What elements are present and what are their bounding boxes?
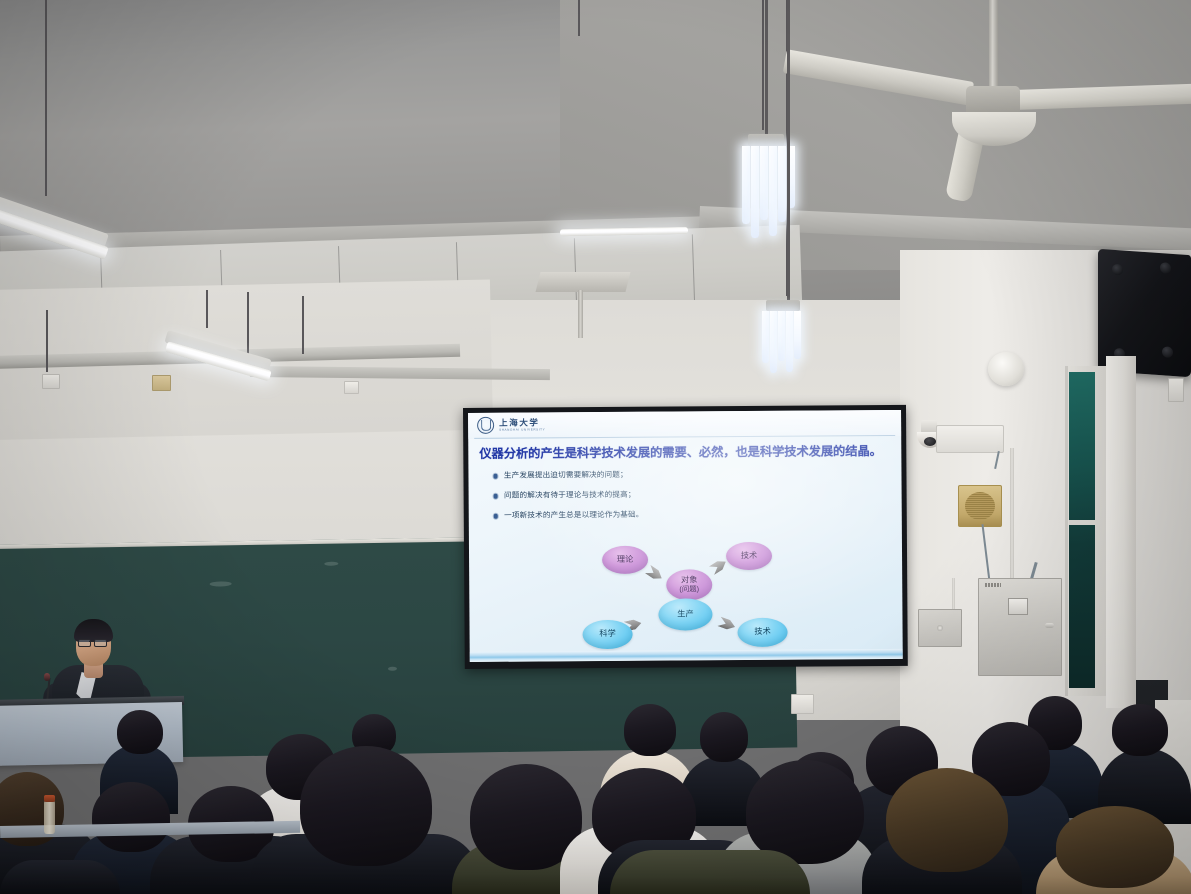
hanging-wire [762, 0, 764, 130]
list-item [250, 834, 480, 894]
north-face-logo-icon [626, 860, 642, 873]
right-wall-lower-panel [1155, 700, 1191, 894]
diagram-arrow [709, 557, 729, 575]
bottle-cap [44, 795, 55, 802]
bullet-text: 一项新技术的产生总是以理论作为基础。 [504, 510, 643, 520]
conduit-pipe [1010, 448, 1014, 580]
list-item [452, 842, 602, 894]
list-item [0, 860, 120, 894]
diagram-arrow [717, 617, 736, 632]
slide-title: 仪器分析的产生是科学技术发展的需要、必然，也是科学技术发展的结晶。 [479, 444, 891, 462]
node-label: 理论 [617, 556, 633, 565]
diagram-node-tech-bottom: 技术 [737, 618, 787, 647]
slide-diagram: 理论 技术 对象 (问题) 生产 科学 技术 [469, 538, 903, 653]
diagram-node-production: 生产 [658, 598, 712, 630]
university-name-en: SHANGHAI UNIVERSITY [499, 428, 545, 431]
water-bottle [44, 800, 55, 834]
wall-pillar [1106, 356, 1136, 708]
student-head [592, 768, 696, 860]
bullet-text: 问题的解决有待于理论与技术的提高； [504, 490, 636, 500]
node-label: 技术 [754, 628, 770, 637]
conduit-pipe [952, 578, 955, 612]
window-glass [1069, 372, 1095, 688]
diagram-arrow [645, 565, 665, 583]
list-item [760, 792, 892, 894]
wall-outlet-plate[interactable] [1168, 378, 1184, 402]
university-logo: 上海大学 SHANGHAI UNIVERSITY [477, 416, 545, 433]
hanging-wire [578, 0, 580, 36]
bullet-text: 生产发展提出迫切需要解决的问题； [504, 470, 628, 480]
hanging-wire [247, 292, 249, 360]
wall-outlet-plate[interactable] [791, 694, 814, 714]
podium [0, 702, 183, 766]
microphone-icon [44, 673, 50, 681]
jacket-brand-text: THE NORTH FACE [646, 858, 683, 871]
junction-box [936, 425, 1004, 453]
node-sublabel: (问题) [679, 585, 699, 593]
list-item [330, 748, 414, 818]
list-item [243, 786, 361, 894]
bullet-dot-icon [494, 494, 498, 498]
wall-outlet-plate[interactable] [344, 381, 359, 394]
university-name-cn: 上海大学 [499, 418, 545, 427]
hanging-wire [46, 310, 48, 372]
projection-screen[interactable]: 上海大学 SHANGHAI UNIVERSITY 仪器分析的产生是科学技术发展的… [463, 405, 908, 669]
student-head [470, 764, 582, 870]
diagram-node-science: 科学 [582, 620, 632, 649]
presentation-slide[interactable]: 上海大学 SHANGHAI UNIVERSITY 仪器分析的产生是科学技术发展的… [468, 410, 903, 662]
list-item: THE NORTH FACE [598, 840, 766, 894]
wall-outlet-plate[interactable] [42, 374, 60, 389]
node-label: 生产 [677, 610, 693, 619]
student-head [300, 746, 432, 866]
lecture-hall-photo: 上海大学 SHANGHAI UNIVERSITY 仪器分析的产生是科学技术发展的… [0, 0, 1191, 894]
student-head [92, 782, 170, 852]
shanghai-university-emblem-icon [477, 417, 494, 434]
list-item [150, 836, 320, 894]
list-item [560, 826, 720, 894]
smoke-detector [988, 352, 1024, 386]
wall-speaker-panel [958, 485, 1002, 527]
list-item: 生产发展提出迫切需要解决的问题； [493, 468, 853, 480]
diagram-node-theory: 理论 [602, 546, 648, 574]
list-item [862, 836, 1022, 894]
wall-outlet-plate[interactable] [152, 375, 171, 391]
diagram-node-object: 对象 (问题) [666, 569, 712, 600]
hanging-wire [45, 0, 47, 196]
bullet-dot-icon [493, 474, 497, 478]
list-item: 一项新技术的产生总是以理论作为基础。 [494, 508, 854, 520]
list-item [610, 850, 810, 894]
window-mullion [1069, 520, 1095, 525]
list-item: 问题的解决有待于理论与技术的提高； [494, 488, 854, 500]
list-item [680, 756, 766, 826]
node-label: 科学 [599, 630, 615, 639]
cabinet-label [985, 583, 1001, 587]
node-label: 技术 [741, 552, 757, 561]
student-head [746, 760, 864, 864]
slide-bullet-list: 生产发展提出迫切需要解决的问题； 问题的解决有待于理论与技术的提高； 一项新技术… [493, 468, 853, 530]
diagram-node-tech-top: 技术 [726, 542, 772, 570]
hanging-wire [206, 290, 208, 328]
electrical-cabinet-small[interactable] [918, 609, 962, 647]
hanging-wire [302, 296, 304, 354]
student-head [788, 752, 854, 812]
slide-footer-band [470, 649, 903, 662]
electrical-cabinet-large[interactable] [978, 578, 1062, 676]
bullet-dot-icon [494, 514, 498, 518]
list-item [716, 832, 878, 894]
glasses-icon [94, 639, 107, 647]
list-item [70, 832, 196, 894]
list-item [600, 750, 696, 824]
